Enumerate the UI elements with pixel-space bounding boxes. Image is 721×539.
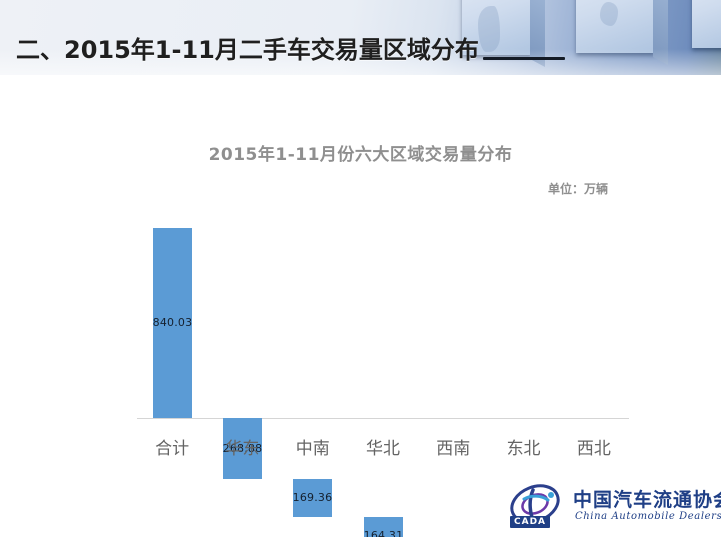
category-axis-line (137, 418, 629, 419)
decorative-cube-icon (692, 0, 721, 48)
bar-value-label: 169.36 (271, 491, 354, 504)
bar-value-label: 840.03 (131, 316, 214, 329)
chart-title: 2015年1-11月份六大区域交易量分布 (0, 140, 721, 165)
category-label-华北: 华北 (348, 434, 418, 459)
page-title: 二、2015年1-11月二手车交易量区域分布 (16, 30, 479, 65)
category-label-合计: 合计 (137, 434, 207, 459)
chart-plot-area: 840.03合计268.88华东169.36中南164.31华北132.31西南… (137, 222, 629, 422)
organization-logo: CADA 中国汽车流通协会 China Automobile Dealers A… (507, 481, 713, 533)
logo-abbreviation: CADA (510, 516, 550, 528)
cube-side-face (653, 0, 668, 65)
category-label-西北: 西北 (559, 434, 629, 459)
title-underline-rule (483, 57, 565, 60)
category-label-中南: 中南 (278, 434, 348, 459)
globe-motif-icon (600, 2, 618, 26)
slide: 二、2015年1-11月二手车交易量区域分布 2015年1-11月份六大区域交易… (0, 0, 721, 539)
chart-unit-note: 单位：万辆 (0, 180, 721, 197)
category-label-东北: 东北 (488, 434, 558, 459)
category-label-华东: 华东 (207, 434, 277, 459)
logo-name-cn: 中国汽车流通协会 (573, 485, 721, 512)
globe-motif-icon (478, 6, 500, 52)
chart-panel: 2015年1-11月份六大区域交易量分布 单位：万辆 840.03合计268.8… (0, 76, 721, 539)
category-label-西南: 西南 (418, 434, 488, 459)
logo-name-en: China Automobile Dealers Association (575, 511, 721, 522)
decorative-cube-icon (576, 0, 655, 53)
